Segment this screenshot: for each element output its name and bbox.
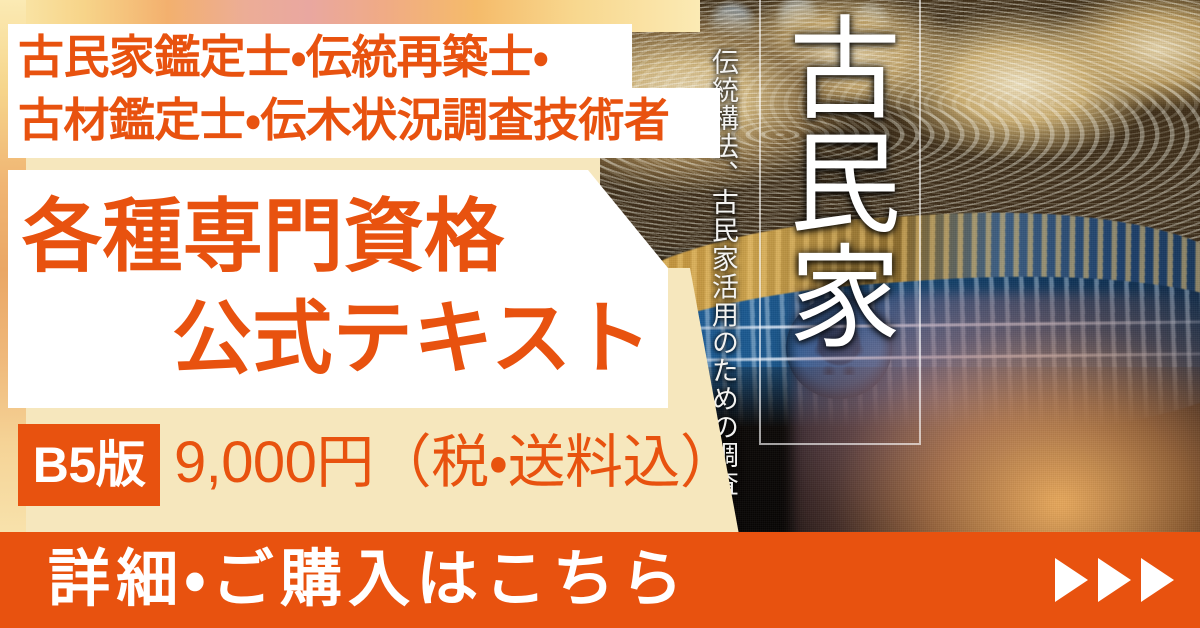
cta-arrow-group bbox=[1055, 558, 1174, 602]
chevron-right-icon bbox=[1055, 558, 1088, 602]
main-title-line-2: 公式テキスト bbox=[22, 288, 682, 390]
headline-text: 古民家鑑定士・伝統再築士・ 古材鑑定士・伝木状況調査技術者 bbox=[18, 26, 718, 151]
book-cover-title: 古民家 bbox=[772, 10, 902, 353]
price-text: 9,000円（税・送料込） bbox=[174, 428, 737, 498]
format-badge: B5版 bbox=[18, 424, 160, 506]
cta-label: 詳細・ご購入はこちら bbox=[48, 549, 689, 611]
cta-bar[interactable]: 詳細・ご購入はこちら bbox=[0, 532, 1200, 628]
main-title-line-1: 各種専門資格 bbox=[22, 186, 682, 288]
chevron-right-icon bbox=[1141, 558, 1174, 602]
chevron-right-icon bbox=[1098, 558, 1131, 602]
promo-banner: 古民家 伝統構法、古民家活用のための調査と再生の 古民家鑑定士・伝統再築士・ 古… bbox=[0, 0, 1200, 628]
headline-line-1: 古民家鑑定士・伝統再築士・ bbox=[18, 26, 718, 89]
format-badge-label: B5版 bbox=[33, 440, 145, 490]
headline-line-2: 古材鑑定士・伝木状況調査技術者 bbox=[18, 89, 718, 152]
main-title: 各種専門資格 公式テキスト bbox=[22, 186, 682, 391]
